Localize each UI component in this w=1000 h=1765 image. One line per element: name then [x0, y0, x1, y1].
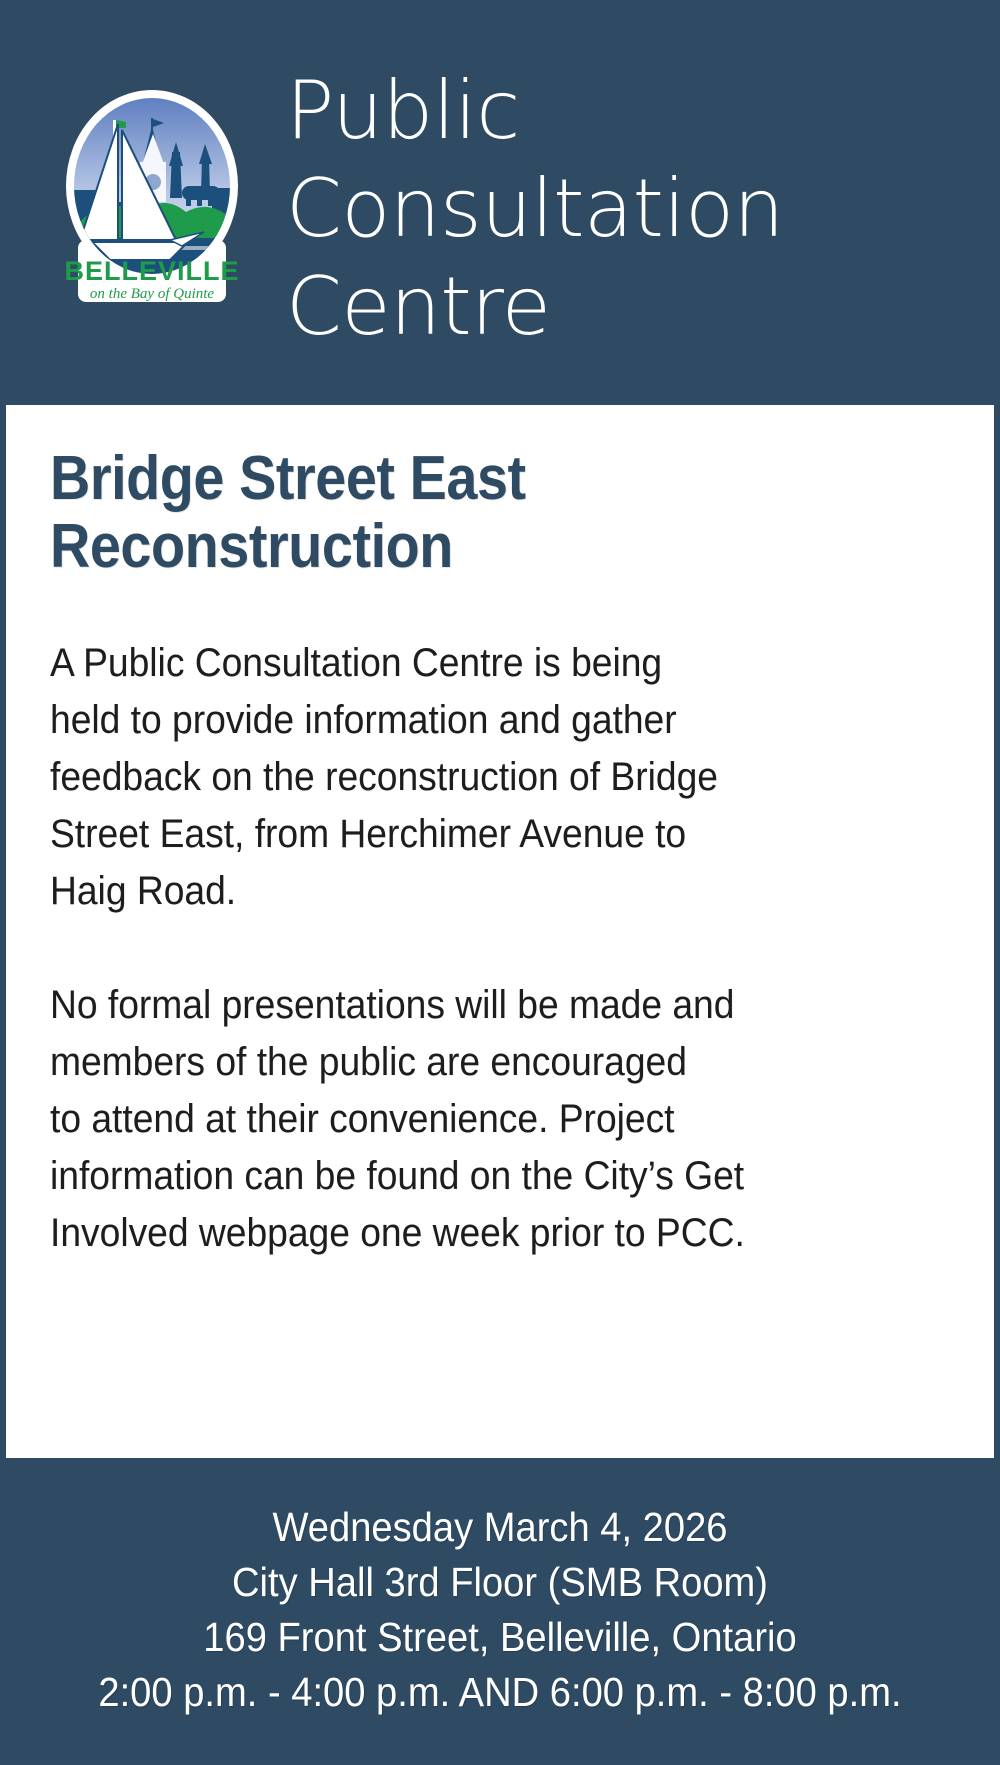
logo-tagline: on the Bay of Quinte [90, 286, 214, 302]
poster-header-title: Public Consultation Centre [286, 60, 784, 356]
event-times: 2:00 p.m. - 4:00 p.m. AND 6:00 p.m. - 8:… [35, 1665, 965, 1720]
poster-footer: Wednesday March 4, 2026 City Hall 3rd Fl… [0, 1458, 1000, 1765]
logo-wordmark: BELLEVILLE [64, 256, 239, 286]
header-title-line-1: Public [286, 62, 784, 160]
page-title: Bridge Street East Reconstruction [50, 445, 858, 581]
paragraph-1-line-1: A Public Consultation Centre is being [50, 635, 885, 692]
body-paragraph-1: A Public Consultation Centre is being he… [50, 635, 885, 920]
paragraph-2-line-2: members of the public are encouraged [50, 1034, 885, 1091]
paragraph-1-line-5: Haig Road. [50, 863, 885, 920]
header-title-line-3: Centre [286, 258, 784, 356]
poster-main-panel: Bridge Street East Reconstruction A Publ… [6, 405, 994, 1458]
paragraph-1-line-2: held to provide information and gather [50, 692, 885, 749]
belleville-city-logo: BELLEVILLE on the Bay of Quinte [52, 90, 252, 305]
header-title-line-2: Consultation [286, 160, 784, 258]
poster-root: BELLEVILLE on the Bay of Quinte Public C… [0, 0, 1000, 1765]
paragraph-2-line-3: to attend at their convenience. Project [50, 1091, 885, 1148]
paragraph-1-line-4: Street East, from Herchimer Avenue to [50, 806, 885, 863]
event-date: Wednesday March 4, 2026 [35, 1500, 965, 1555]
paragraph-2-line-4: information can be found on the City’s G… [50, 1148, 885, 1205]
body-paragraph-2: No formal presentations will be made and… [50, 977, 885, 1262]
paragraph-2-line-5: Involved webpage one week prior to PCC. [50, 1205, 885, 1262]
page-title-line-1: Bridge Street East [50, 445, 858, 513]
page-title-line-2: Reconstruction [50, 513, 858, 581]
event-venue: City Hall 3rd Floor (SMB Room) [35, 1555, 965, 1610]
event-address: 169 Front Street, Belleville, Ontario [35, 1610, 965, 1665]
paragraph-1-line-3: feedback on the reconstruction of Bridge [50, 749, 885, 806]
belleville-logo-icon: BELLEVILLE on the Bay of Quinte [52, 90, 252, 305]
paragraph-2-line-1: No formal presentations will be made and [50, 977, 885, 1034]
paragraph-spacer [50, 920, 948, 977]
poster-header: BELLEVILLE on the Bay of Quinte Public C… [0, 0, 1000, 405]
